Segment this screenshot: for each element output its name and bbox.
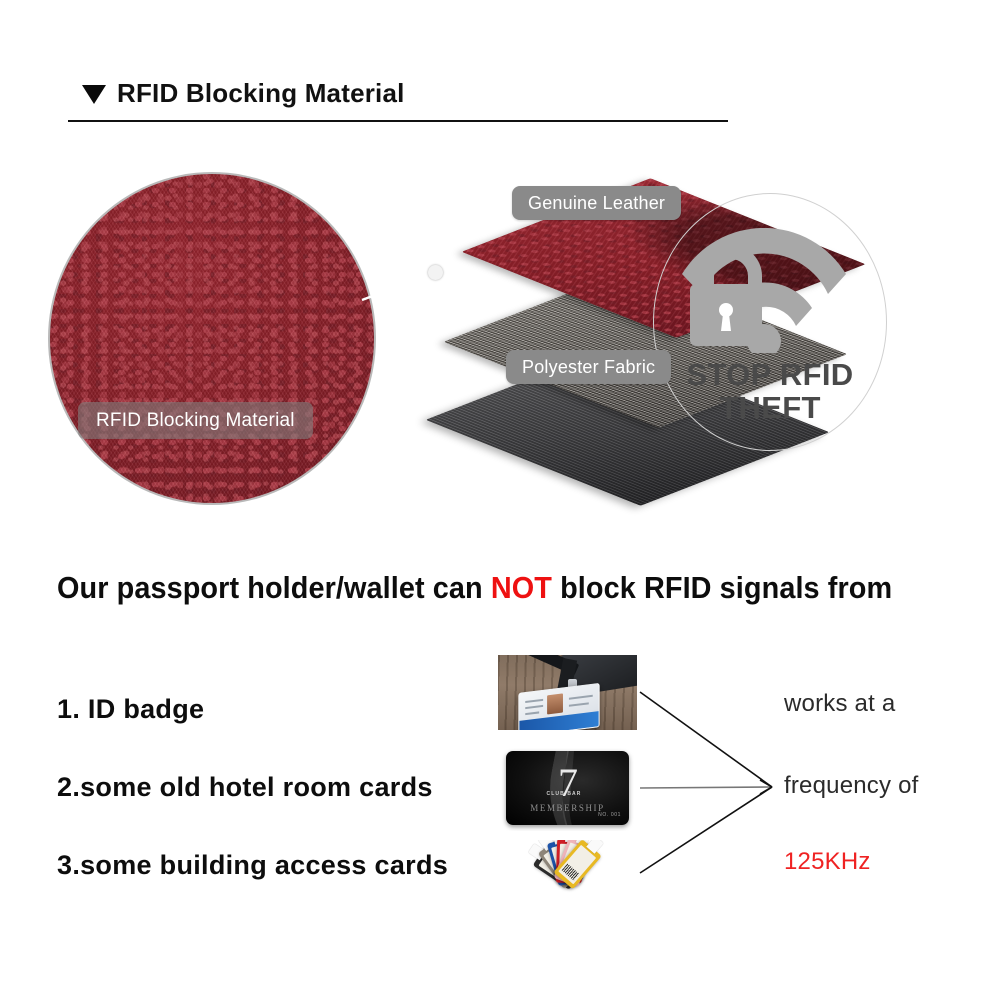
- card-tier: MEMBERSHIP: [530, 803, 605, 813]
- stop-rfid-line1: STOP RFID: [653, 358, 887, 391]
- frequency-value: 125KHz: [784, 848, 871, 876]
- page-title: RFID Blocking Material: [117, 78, 405, 109]
- label-polyester-fabric: Polyester Fabric: [506, 350, 671, 384]
- infographic-canvas: RFID Blocking Material RFID Blocking Mat…: [0, 0, 1001, 1001]
- wifi-lock-icon: [676, 228, 866, 353]
- badge-portrait: [547, 693, 563, 714]
- triangle-down-icon: [82, 85, 106, 104]
- building-access-cards-photo: [498, 840, 639, 907]
- badge-text-line: [569, 695, 593, 700]
- rfid-blocking-material-badge: RFID Blocking Material: [78, 402, 313, 439]
- badge-text-line: [569, 702, 589, 706]
- badge-text-line: [525, 711, 539, 715]
- id-badge-photo: [498, 655, 637, 730]
- hotel-room-card-photo: 7 CLUB BAR MEMBERSHIP NO. 001: [498, 745, 637, 831]
- label-genuine-leather: Genuine Leather: [512, 186, 681, 220]
- reason-item-1: 1. ID badge: [57, 694, 204, 725]
- reason-item-3: 3.some building access cards: [57, 850, 448, 881]
- headline-after: block RFID signals from: [552, 570, 892, 605]
- headline-negation: NOT: [491, 570, 552, 605]
- headline: Our passport holder/wallet can NOT block…: [57, 570, 892, 606]
- card-numeral: 7: [558, 763, 577, 803]
- frequency-note-line2: frequency of: [784, 772, 918, 800]
- badge-text-line: [525, 705, 543, 709]
- reason-item-2: 2.some old hotel room cards: [57, 772, 433, 803]
- stop-rfid-line2: THEFT: [653, 391, 887, 424]
- card-brand: CLUB BAR: [547, 791, 582, 797]
- membership-card: 7 CLUB BAR MEMBERSHIP NO. 001: [506, 751, 629, 825]
- card-serial: NO. 001: [598, 812, 621, 818]
- leather-magnifier-circle: [48, 172, 376, 505]
- layer-callout-dot: [428, 265, 443, 280]
- header-divider: [68, 120, 728, 122]
- frequency-note-line1: works at a: [784, 690, 895, 718]
- stop-rfid-theft-text: STOP RFID THEFT: [653, 358, 887, 425]
- headline-before: Our passport holder/wallet can: [57, 570, 491, 605]
- badge-text-line: [525, 699, 543, 703]
